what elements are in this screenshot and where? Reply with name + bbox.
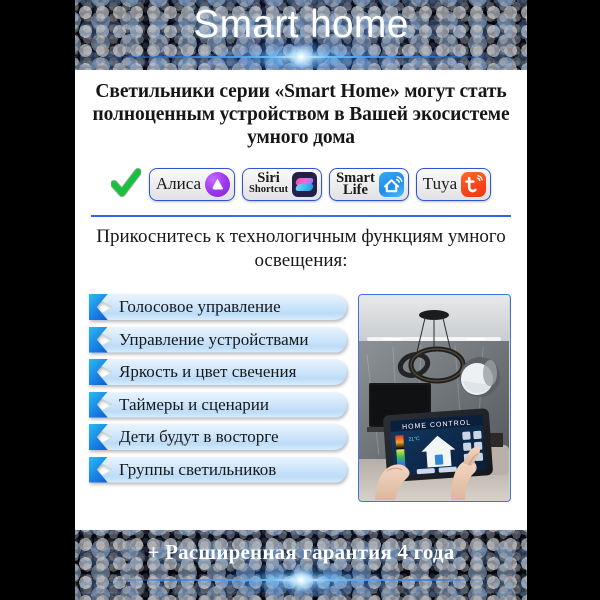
footer-light-streak-decoration xyxy=(101,573,501,587)
header-banner: Smart home xyxy=(75,0,527,72)
subheading-text: Прикоснитесь к технологичным функциям ум… xyxy=(89,225,513,273)
feature-item[interactable]: Голосовое управление xyxy=(89,294,347,320)
warranty-text: + Расширенная гарантия 4 года xyxy=(75,540,527,565)
badge-siri-line2: Shortcut xyxy=(249,184,288,197)
badge-smart-life[interactable]: Smart Life xyxy=(329,168,409,201)
badge-siri-label: Siri Shortcut xyxy=(249,172,288,197)
ecosystem-badge-row: Алиса Siri Shortcut xyxy=(75,164,527,204)
badge-alisa[interactable]: Алиса xyxy=(149,168,235,201)
smart-home-product-photo: HOME CONTROL 21°C xyxy=(358,294,511,502)
feature-label: Группы светильников xyxy=(119,457,341,483)
tuya-logo-icon xyxy=(461,172,486,197)
badge-smart-life-line2: Life xyxy=(343,184,368,197)
feature-label: Таймеры и сценарии xyxy=(119,392,341,418)
slide-canvas: Smart home Светильники серии «Smart Home… xyxy=(0,0,600,600)
feature-label: Управление устройствами xyxy=(119,327,341,353)
light-streak-decoration xyxy=(101,50,501,64)
feature-item[interactable]: Таймеры и сценарии xyxy=(89,392,347,418)
feature-item[interactable]: Яркость и цвет свечения xyxy=(89,359,347,385)
feature-label: Дети будут в восторге xyxy=(119,424,341,450)
content-column: Smart home Светильники серии «Smart Home… xyxy=(75,0,527,600)
svg-text:21°C: 21°C xyxy=(408,436,420,443)
section-divider xyxy=(91,215,511,217)
main-card: Светильники серии «Smart Home» могут ста… xyxy=(75,72,527,529)
feature-item[interactable]: Дети будут в восторге xyxy=(89,424,347,450)
smart-life-logo-icon xyxy=(379,172,404,197)
badge-alisa-label: Алиса xyxy=(156,175,201,193)
streak-core xyxy=(288,567,314,593)
siri-shape-bottom xyxy=(295,184,314,191)
feature-item[interactable]: Группы светильников xyxy=(89,457,347,483)
feature-label: Голосовое управление xyxy=(119,294,341,320)
green-check-icon xyxy=(111,168,141,200)
right-letterbox-bar xyxy=(527,0,600,600)
badge-smart-life-label: Smart Life xyxy=(336,172,375,197)
badge-siri-shortcut[interactable]: Siri Shortcut xyxy=(242,168,322,201)
left-letterbox-bar xyxy=(0,0,75,600)
alisa-triangle xyxy=(212,179,224,190)
feature-item[interactable]: Управление устройствами xyxy=(89,327,347,353)
alisa-logo-icon xyxy=(205,172,230,197)
headline-text: Светильники серии «Smart Home» могут ста… xyxy=(83,80,519,149)
badge-tuya[interactable]: Tuya xyxy=(416,168,491,201)
feature-label: Яркость и цвет свечения xyxy=(119,359,341,385)
streak-core xyxy=(288,44,314,70)
feature-list: Голосовое управление Управление устройст… xyxy=(89,294,347,489)
badge-tuya-label: Tuya xyxy=(423,175,457,193)
footer-banner: + Расширенная гарантия 4 года xyxy=(75,529,527,600)
siri-shortcut-logo-icon xyxy=(292,172,317,197)
badge-siri-line1: Siri xyxy=(257,172,280,185)
